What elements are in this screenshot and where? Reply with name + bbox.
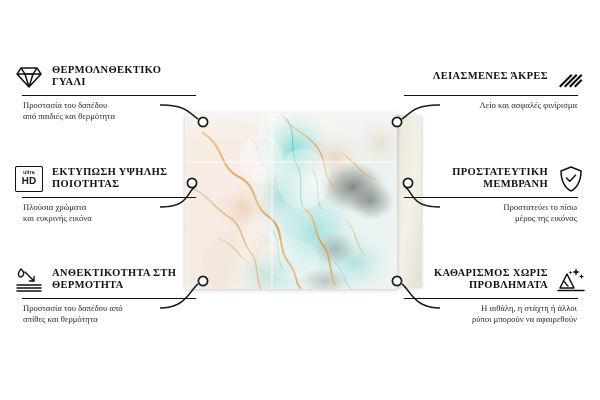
sparkle-clean-icon bbox=[556, 265, 586, 295]
feature-description: Προστατεύει το πίσωμέρος της εικόνας bbox=[404, 202, 577, 224]
feature-high-quality-print: ultra HD ΕΚΤΥΠΩΣΗ ΥΨΗΛΗΣ ΠΟΙΟΤΗΤΑΣ Πλούσ… bbox=[14, 164, 196, 224]
flame-deflect-icon bbox=[14, 265, 44, 295]
product-image bbox=[185, 113, 421, 289]
feature-easy-cleaning: ΚΑΘΑΡΙΣΜΟΣ ΧΩΡΙΣ ΠΡΟΒΛΗΜΑΤΑ Η αιθάλη, η … bbox=[404, 265, 586, 325]
shield-check-icon bbox=[556, 164, 586, 194]
feature-description: Προστασία του δαπέδου απόσπίθες και θερμ… bbox=[23, 303, 196, 325]
feature-title: ΑΝΘΕΚΤΙΚΟΤΗΤΑ ΣΤΗ ΘΕΡΜΟΤΗΤΑ bbox=[52, 268, 196, 293]
feature-divider bbox=[404, 197, 578, 198]
ultra-hd-badge-icon: ultra HD bbox=[14, 164, 44, 194]
feature-header: ΛΕΙΑΣΜΕΝΕΣ ΆΚΡΕΣ bbox=[404, 62, 586, 92]
feature-title: ΠΡΟΣΤΑΤΕΥΤΙΚΗ ΜΕΜΒΡΑΝΗ bbox=[404, 167, 548, 192]
product-front-panel bbox=[185, 113, 397, 289]
feature-title: ΛΕΙΑΣΜΕΝΕΣ ΆΚΡΕΣ bbox=[433, 71, 548, 84]
feature-header: ΘΕΡΜΟΛΝΘΕΚΤΙΚΟ ΓΥΑΛΙ bbox=[14, 62, 196, 92]
feature-title: ΘΕΡΜΟΛΝΘΕΚΤΙΚΟ ΓΥΑΛΙ bbox=[52, 65, 196, 90]
feature-header: ΠΡΟΣΤΑΤΕΥΤΙΚΗ ΜΕΜΒΡΑΝΗ bbox=[404, 164, 586, 194]
feature-header: ΑΝΘΕΚΤΙΚΟΤΗΤΑ ΣΤΗ ΘΕΡΜΟΤΗΤΑ bbox=[14, 265, 196, 295]
feature-description: Η αιθάλη, η στάχτη ή άλλοιρύποι μπορούν … bbox=[404, 303, 577, 325]
feature-divider bbox=[22, 95, 196, 96]
feature-divider bbox=[22, 197, 196, 198]
feature-heat-resistance: ΑΝΘΕΚΤΙΚΟΤΗΤΑ ΣΤΗ ΘΕΡΜΟΤΗΤΑ Προστασία το… bbox=[14, 265, 196, 325]
infographic-canvas: ΘΕΡΜΟΛΝΘΕΚΤΙΚΟ ΓΥΑΛΙ Προστασία του δαπέδ… bbox=[0, 0, 600, 400]
glass-gloss-overlay bbox=[185, 113, 397, 289]
feature-polished-edges: ΛΕΙΑΣΜΕΝΕΣ ΆΚΡΕΣ Λείο και ασφαλές φινίρι… bbox=[404, 62, 586, 111]
feature-protective-membrane: ΠΡΟΣΤΑΤΕΥΤΙΚΗ ΜΕΜΒΡΑΝΗ Προστατεύει το πί… bbox=[404, 164, 586, 224]
feature-description: Πλούσια χρώματακαι ευκρινής εικόνα bbox=[23, 202, 196, 224]
feature-description: Προστασία του δαπέδουαπό παιδιές και θερ… bbox=[23, 100, 196, 122]
feature-divider bbox=[404, 298, 578, 299]
feature-thermal-glass: ΘΕΡΜΟΛΝΘΕΚΤΙΚΟ ΓΥΑΛΙ Προστασία του δαπέδ… bbox=[14, 62, 196, 122]
feature-description: Λείο και ασφαλές φινίρισμα bbox=[404, 100, 577, 111]
feature-divider bbox=[22, 298, 196, 299]
feature-divider bbox=[404, 95, 578, 96]
feature-title: ΕΚΤΥΠΩΣΗ ΥΨΗΛΗΣ ΠΟΙΟΤΗΤΑΣ bbox=[52, 167, 196, 192]
hatched-triangle-icon bbox=[556, 62, 586, 92]
feature-header: ΚΑΘΑΡΙΣΜΟΣ ΧΩΡΙΣ ΠΡΟΒΛΗΜΑΤΑ bbox=[404, 265, 586, 295]
feature-header: ultra HD ΕΚΤΥΠΩΣΗ ΥΨΗΛΗΣ ΠΟΙΟΤΗΤΑΣ bbox=[14, 164, 196, 194]
diamond-icon bbox=[14, 62, 44, 92]
feature-title: ΚΑΘΑΡΙΣΜΟΣ ΧΩΡΙΣ ΠΡΟΒΛΗΜΑΤΑ bbox=[404, 268, 548, 293]
